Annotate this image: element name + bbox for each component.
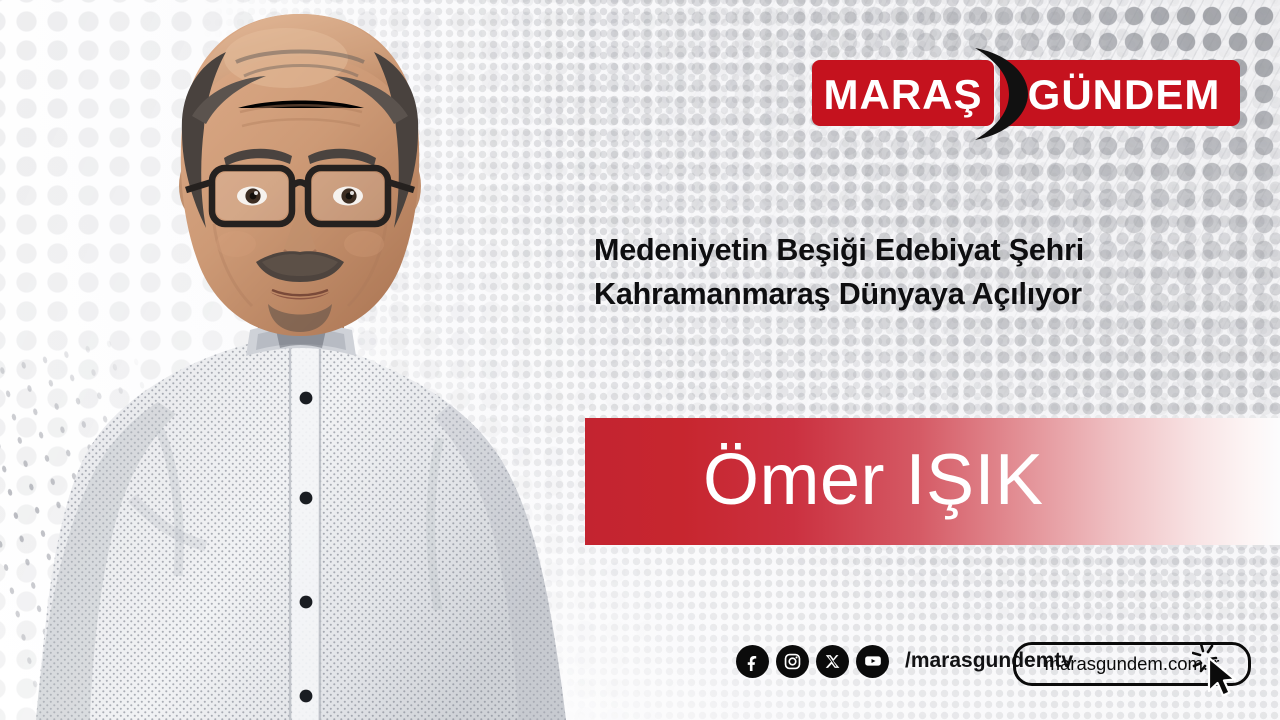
- news-graphic-canvas: MARAŞ GÜNDEM Medeniyetin Beşiği Edebiyat…: [0, 0, 1280, 720]
- facebook-icon: [743, 652, 762, 671]
- click-cursor-icon: [1192, 640, 1254, 696]
- x-twitter-link[interactable]: [816, 645, 849, 678]
- headline-text: Medeniyetin Beşiği Edebiyat Şehri Kahram…: [594, 228, 1214, 316]
- site-logo[interactable]: MARAŞ GÜNDEM: [812, 46, 1240, 138]
- author-name: Ömer IŞIK: [703, 432, 1044, 528]
- x-twitter-icon: [824, 653, 841, 670]
- logo-word-right: GÜNDEM: [1028, 71, 1221, 118]
- portrait-photo: [0, 0, 600, 720]
- logo-word-left: MARAŞ: [824, 71, 983, 118]
- youtube-link[interactable]: [856, 645, 889, 678]
- instagram-link[interactable]: [776, 645, 809, 678]
- facebook-link[interactable]: [736, 645, 769, 678]
- instagram-icon: [783, 652, 802, 671]
- youtube-icon: [863, 651, 883, 671]
